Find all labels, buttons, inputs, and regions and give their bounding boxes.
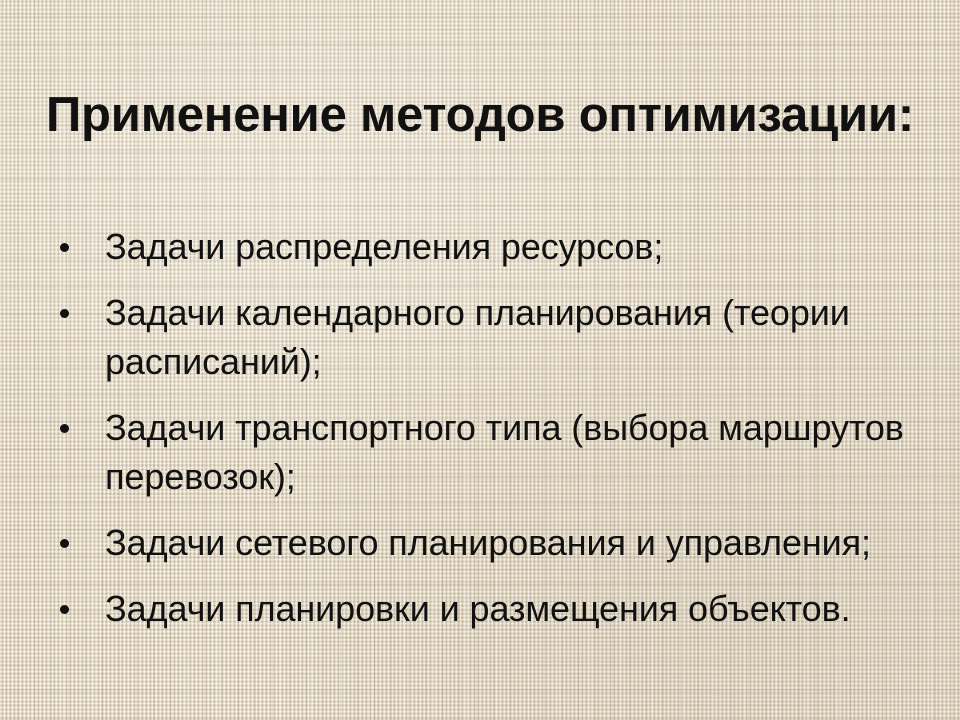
bullet-dot-icon bbox=[60, 243, 69, 252]
list-item-text: Задачи сетевого планирования и управлени… bbox=[105, 518, 918, 567]
list-item: Задачи планировки и размещения объектов. bbox=[52, 584, 918, 633]
list-item: Задачи транспортного типа (выбора маршру… bbox=[52, 403, 918, 501]
list-item: Задачи календарного планирования (теории… bbox=[52, 288, 918, 386]
bullet-dot-icon bbox=[60, 605, 69, 614]
bullet-list: Задачи распределения ресурсов; Задачи ка… bbox=[52, 222, 918, 633]
bullet-dot-icon bbox=[60, 309, 69, 318]
list-item: Задачи сетевого планирования и управлени… bbox=[52, 518, 918, 567]
list-item: Задачи распределения ресурсов; bbox=[52, 222, 918, 271]
list-item-text: Задачи распределения ресурсов; bbox=[105, 222, 918, 271]
bullet-dot-icon bbox=[60, 424, 69, 433]
presentation-slide: Применение методов оптимизации: Задачи р… bbox=[0, 0, 960, 720]
list-item-text: Задачи транспортного типа (выбора маршру… bbox=[105, 403, 918, 501]
slide-title: Применение методов оптимизации: bbox=[0, 87, 960, 143]
list-item-text: Задачи планировки и размещения объектов. bbox=[105, 584, 918, 633]
list-item-text: Задачи календарного планирования (теории… bbox=[105, 288, 918, 386]
slide-content: Применение методов оптимизации: Задачи р… bbox=[0, 0, 960, 720]
bullet-dot-icon bbox=[60, 539, 69, 548]
